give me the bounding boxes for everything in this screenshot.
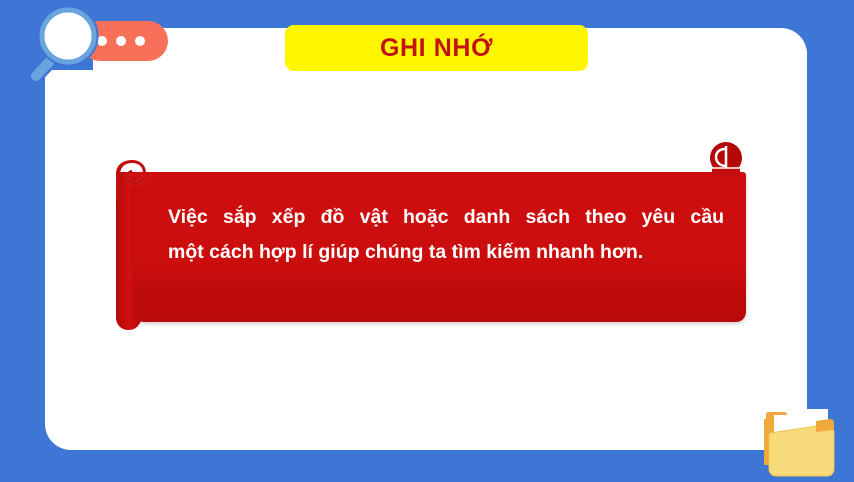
pill-dot [116,36,126,46]
slide-title-chip: GHI NHỚ [285,25,588,71]
scroll-word: xếp [272,200,306,235]
scroll-body: Việc sắp xếp đồ vật hoặc danh sách theo … [134,172,746,322]
scroll-line-2: một cách hợp lí giúp chúng ta tìm kiếm n… [168,235,724,270]
scroll-word: theo [585,200,626,235]
scroll-line-1: Việc sắp xếp đồ vật hoặc danh sách theo … [168,200,724,235]
scroll-text-block: Việc sắp xếp đồ vật hoặc danh sách theo … [168,200,724,270]
scroll-word: sắp [223,200,257,235]
slide-canvas: GHI NHỚ Việc sắp xếp đồ vật hoặc danh sá… [0,0,854,482]
open-folder-icon [760,403,854,482]
scroll-word: hoặc [403,200,449,235]
scroll-word: Việc [168,200,208,235]
decoration-magnifier-group [18,6,168,86]
scroll-callout: Việc sắp xếp đồ vật hoặc danh sách theo … [104,140,749,336]
scroll-word: yêu [642,200,676,235]
scroll-word: cầu [690,200,724,235]
scroll-word: sách [526,200,570,235]
scroll-word: đồ [321,200,345,235]
pill-dot [135,36,145,46]
page-title: GHI NHỚ [380,36,493,61]
scroll-curl-right-icon [704,140,748,184]
scroll-curl-left-icon [108,158,150,202]
scroll-word: vật [360,200,388,235]
scroll-word: danh [464,200,511,235]
magnifier-icon [18,6,110,86]
